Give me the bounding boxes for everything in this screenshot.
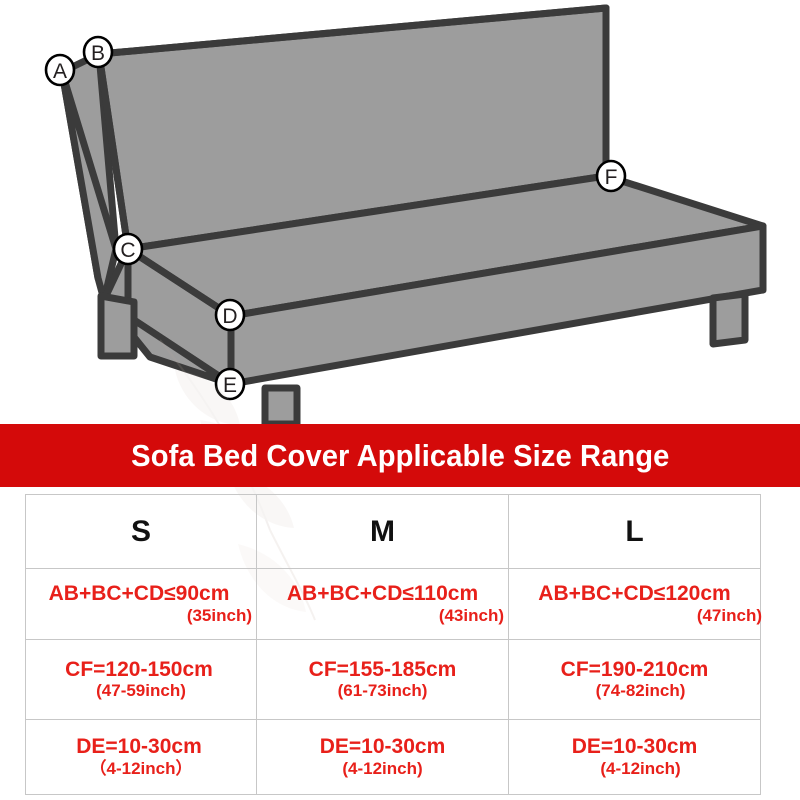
sofa-illustration: A B C D E	[0, 0, 800, 424]
cell-cf-l: CF=190-210cm (74-82inch)	[509, 640, 761, 720]
measurement-main: CF=120-150cm	[24, 658, 254, 682]
table-row: DE=10-30cm （4-12inch） DE=10-30cm (4-12in…	[26, 720, 761, 795]
vertex-marker-f: F	[597, 161, 625, 191]
header-cell-m: M	[257, 495, 509, 569]
cell-cf-m: CF=155-185cm (61-73inch)	[257, 640, 509, 720]
sofa-body	[62, 8, 763, 424]
vertex-label-c: C	[120, 239, 135, 262]
leg-front-center	[265, 388, 297, 424]
cell-cf-s: CF=120-150cm (47-59inch)	[26, 640, 257, 720]
measurement-main: AB+BC+CD≤90cm	[24, 582, 254, 606]
measurement-sub: （4-12inch）	[26, 759, 256, 779]
measurement-sub: (47inch)	[515, 606, 766, 626]
vertex-label-d: D	[222, 305, 237, 328]
table-header-row: S M L	[26, 495, 761, 569]
vertex-marker-b: B	[84, 37, 112, 67]
cell-ab-m: AB+BC+CD≤110cm (43inch)	[257, 569, 509, 640]
measurement-sub: (43inch)	[257, 606, 508, 626]
measurement-main: DE=10-30cm	[24, 735, 254, 759]
cell-de-l: DE=10-30cm (4-12inch)	[509, 720, 761, 795]
measurement-sub: (47-59inch)	[26, 681, 256, 701]
vertex-label-f: F	[605, 166, 618, 189]
vertex-label-b: B	[91, 42, 105, 65]
measurement-main: CF=190-210cm	[509, 658, 760, 682]
measurement-sub: (35inch)	[26, 606, 256, 626]
header-label-m: M	[257, 517, 508, 547]
vertex-marker-a: A	[46, 55, 74, 85]
header-label-s: S	[26, 517, 256, 547]
measurement-sub: (61-73inch)	[257, 681, 508, 701]
measurement-main: CF=155-185cm	[257, 658, 508, 682]
size-range-table: S M L AB+BC+CD≤90cm (35inch) AB+BC+CD≤11…	[25, 494, 761, 795]
leg-front-right	[713, 294, 745, 344]
measurement-main: AB+BC+CD≤110cm	[257, 582, 508, 606]
vertex-marker-c: C	[114, 234, 142, 264]
measurement-main: AB+BC+CD≤120cm	[509, 582, 760, 606]
header-cell-s: S	[26, 495, 257, 569]
vertex-label-e: E	[223, 374, 237, 397]
header-label-l: L	[509, 517, 760, 547]
vertex-label-a: A	[53, 60, 67, 83]
banner-title: Sofa Bed Cover Applicable Size Range	[131, 438, 669, 474]
table-row: AB+BC+CD≤90cm (35inch) AB+BC+CD≤110cm (4…	[26, 569, 761, 640]
vertex-marker-d: D	[216, 300, 244, 330]
cell-de-s: DE=10-30cm （4-12inch）	[26, 720, 257, 795]
sofa-diagram-area: A B C D E	[0, 0, 800, 424]
cell-de-m: DE=10-30cm (4-12inch)	[257, 720, 509, 795]
vertex-marker-e: E	[216, 369, 244, 399]
table-row: CF=120-150cm (47-59inch) CF=155-185cm (6…	[26, 640, 761, 720]
measurement-main: DE=10-30cm	[509, 735, 760, 759]
header-cell-l: L	[509, 495, 761, 569]
measurement-sub: (74-82inch)	[515, 681, 766, 701]
measurement-main: DE=10-30cm	[257, 735, 508, 759]
cell-ab-l: AB+BC+CD≤120cm (47inch)	[509, 569, 761, 640]
measurement-sub: (4-12inch)	[257, 759, 508, 779]
measurement-sub: (4-12inch)	[515, 759, 766, 779]
size-range-banner: Sofa Bed Cover Applicable Size Range	[0, 424, 800, 487]
product-size-chart-page: A B C D E	[0, 0, 800, 800]
leg-front-left	[101, 296, 134, 356]
cell-ab-s: AB+BC+CD≤90cm (35inch)	[26, 569, 257, 640]
